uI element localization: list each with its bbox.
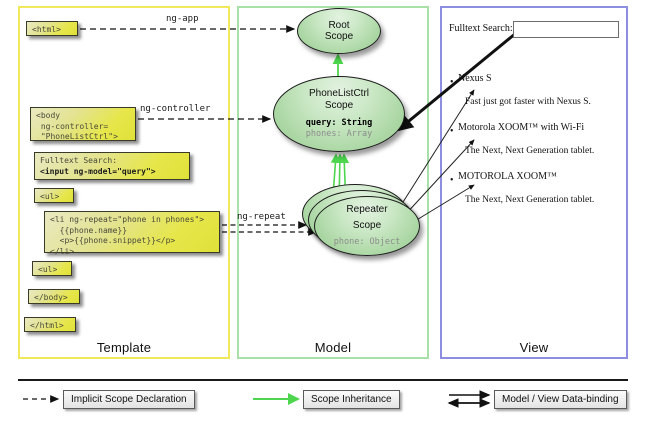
scope-repeater-title-1: Repeater bbox=[346, 204, 387, 216]
view-item-snippet-2: The Next, Next Generation tablet. bbox=[465, 146, 594, 156]
scope-repeater-title-2: Scope bbox=[353, 220, 381, 232]
view-bullet-2: • bbox=[450, 127, 454, 137]
scope-phonelistctrl[interactable]: PhoneListCtrl Scope query: String phones… bbox=[273, 76, 405, 152]
li-line-1: <li ng-repeat="phone in phones"> bbox=[50, 215, 204, 224]
legend-item-model-view-data-binding: Model / View Data-binding bbox=[494, 390, 627, 409]
scope-repeater[interactable]: Repeater Scope phone: Object bbox=[314, 196, 420, 256]
diagram-canvas: <html> <body ng-controller= "PhoneListCt… bbox=[0, 0, 645, 425]
code-box-body-open[interactable]: <body ng-controller= "PhoneListCtrl"> bbox=[30, 107, 136, 141]
legend-divider bbox=[18, 379, 628, 381]
code-box-search-input: <input ng-model="query"> bbox=[40, 167, 156, 176]
scope-root[interactable]: Root Scope bbox=[297, 8, 381, 54]
view-content: Fulltext Search: • Nexus S Fast just got… bbox=[440, 6, 628, 359]
scope-ctrl-prop-query: query: String bbox=[306, 118, 373, 129]
scope-repeater-prop-phone: phone: Object bbox=[334, 237, 401, 248]
scope-root-title-1: Root bbox=[328, 20, 349, 32]
li-line-3: <p>{{phone.snippet}}</p> bbox=[50, 236, 175, 245]
view-item-snippet-3: The Next, Next Generation tablet. bbox=[465, 195, 594, 205]
view-item-snippet-1: Fast just got faster with Nexus S. bbox=[465, 97, 591, 107]
code-box-html-close[interactable]: </html> bbox=[24, 317, 76, 332]
scope-ctrl-title-1: PhoneListCtrl bbox=[309, 88, 369, 100]
view-bullet-1: • bbox=[450, 78, 454, 88]
view-item-name-1: Nexus S bbox=[458, 73, 492, 84]
code-box-html-open[interactable]: <html> bbox=[26, 21, 78, 36]
label-ng-app: ng-app bbox=[166, 14, 199, 24]
view-search-label: Fulltext Search: bbox=[449, 23, 513, 34]
view-search-input[interactable] bbox=[513, 21, 619, 38]
li-line-4: </li> bbox=[50, 247, 74, 256]
legend-item-implicit-scope-declaration: Implicit Scope Declaration bbox=[63, 390, 195, 409]
code-box-ul-open[interactable]: <ul> bbox=[34, 188, 74, 203]
code-box-body-close[interactable]: </body> bbox=[28, 289, 80, 304]
panel-label-model: Model bbox=[237, 340, 429, 355]
code-box-li-repeat[interactable]: <li ng-repeat="phone in phones"> {{phone… bbox=[44, 211, 220, 253]
code-box-search-label: Fulltext Search: bbox=[40, 156, 117, 165]
label-ng-controller: ng-controller bbox=[140, 104, 210, 114]
legend-arrow-databinding bbox=[449, 395, 489, 403]
scope-ctrl-prop-phones: phones: Array bbox=[306, 129, 373, 140]
legend-item-scope-inheritance: Scope Inheritance bbox=[303, 390, 400, 409]
li-line-2: {{phone.name}} bbox=[50, 226, 127, 235]
code-box-search[interactable]: Fulltext Search:<input ng-model="query"> bbox=[34, 152, 190, 180]
scope-ctrl-title-2: Scope bbox=[325, 100, 353, 112]
label-ng-repeat: ng-repeat bbox=[237, 212, 286, 222]
view-bullet-3: • bbox=[450, 176, 454, 186]
panel-model bbox=[237, 6, 429, 359]
view-item-name-3: MOTOROLA XOOM™ bbox=[458, 171, 557, 182]
view-item-name-2: Motorola XOOM™ with Wi-Fi bbox=[458, 122, 584, 133]
code-box-ul-close[interactable]: <ul> bbox=[32, 261, 72, 276]
panel-template bbox=[18, 6, 230, 359]
panel-label-view: View bbox=[440, 340, 628, 355]
scope-root-title-2: Scope bbox=[325, 31, 353, 43]
panel-label-template: Template bbox=[18, 340, 230, 355]
